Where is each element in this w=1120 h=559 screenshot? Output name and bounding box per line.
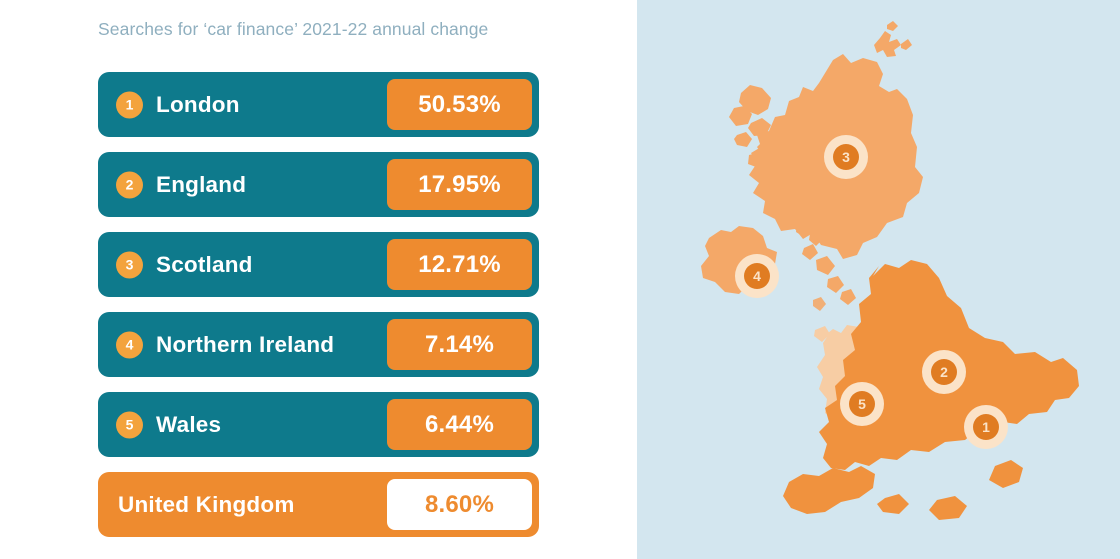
region-label: London [156, 92, 240, 118]
map-marker-label: 4 [744, 263, 770, 289]
total-label: United Kingdom [118, 492, 295, 518]
rank-badge: 1 [116, 91, 143, 118]
map-region-southwest [783, 466, 875, 514]
value-box: 12.71% [387, 239, 532, 290]
total-value-box: 8.60% [387, 479, 532, 530]
value-box: 7.14% [387, 319, 532, 370]
rank-badge: 4 [116, 331, 143, 358]
table-row[interactable]: 4 Northern Ireland 7.14% [98, 312, 539, 377]
region-label: England [156, 172, 246, 198]
uk-map-panel: 1 2 3 4 5 [637, 0, 1120, 559]
ranking-list: 1 London 50.53% 2 England 17.95% 3 Scotl… [98, 72, 539, 537]
map-region-islands [813, 297, 826, 311]
map-marker-label: 1 [973, 414, 999, 440]
map-marker-3[interactable]: 3 [824, 135, 868, 179]
value-text: 17.95% [418, 171, 501, 199]
total-value-text: 8.60% [425, 491, 494, 519]
rank-badge: 2 [116, 171, 143, 198]
table-row[interactable]: 1 London 50.53% [98, 72, 539, 137]
value-text: 50.53% [418, 91, 501, 119]
table-row[interactable]: 2 England 17.95% [98, 152, 539, 217]
value-text: 6.44% [425, 411, 494, 439]
table-row[interactable]: 3 Scotland 12.71% [98, 232, 539, 297]
region-label: Wales [156, 412, 221, 438]
rank-badge: 3 [116, 251, 143, 278]
map-marker-label: 3 [833, 144, 859, 170]
value-box: 6.44% [387, 399, 532, 450]
value-box: 50.53% [387, 79, 532, 130]
map-marker-4[interactable]: 4 [735, 254, 779, 298]
table-row[interactable]: 5 Wales 6.44% [98, 392, 539, 457]
value-text: 7.14% [425, 331, 494, 359]
value-text: 12.71% [418, 251, 501, 279]
region-label: Scotland [156, 252, 253, 278]
ranking-panel: Searches for ‘car finance’ 2021-22 annua… [0, 0, 637, 559]
value-box: 17.95% [387, 159, 532, 210]
region-label: Northern Ireland [156, 332, 334, 358]
map-marker-label: 5 [849, 391, 875, 417]
map-marker-5[interactable]: 5 [840, 382, 884, 426]
page-title: Searches for ‘car finance’ 2021-22 annua… [98, 19, 488, 40]
map-marker-1[interactable]: 1 [964, 405, 1008, 449]
map-marker-label: 2 [931, 359, 957, 385]
table-row-total[interactable]: United Kingdom 8.60% [98, 472, 539, 537]
uk-map-icon [637, 0, 1120, 559]
rank-badge: 5 [116, 411, 143, 438]
infographic-root: Searches for ‘car finance’ 2021-22 annua… [0, 0, 1120, 559]
map-marker-2[interactable]: 2 [922, 350, 966, 394]
